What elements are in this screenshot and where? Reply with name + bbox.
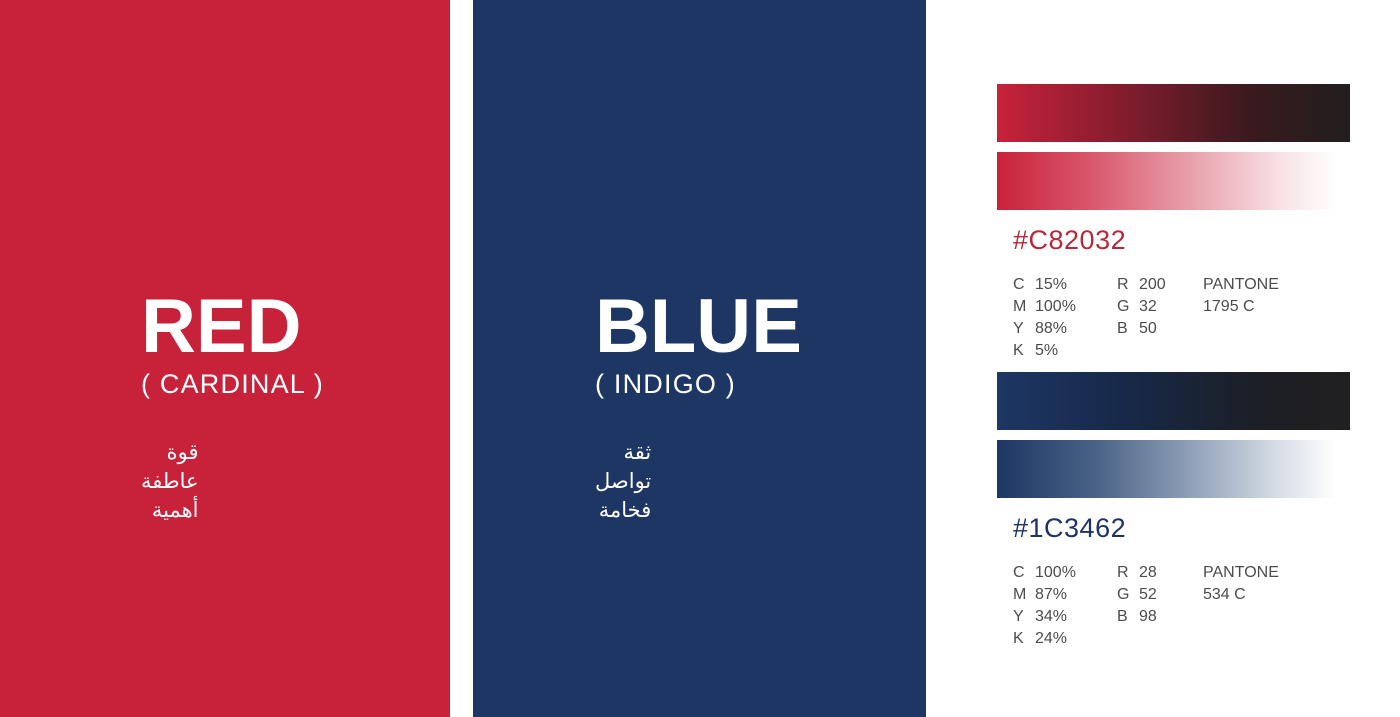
cmyk-k-value: 5% [1035,340,1058,362]
rgb-g-value: 32 [1139,296,1157,318]
rgb-b-channel: B [1117,606,1139,628]
spec-row-rgb-r: R 200 [1117,274,1203,296]
panel-blue-content: BLUE ( INDIGO ) ثقة تواصل فخامة [473,292,926,525]
panel-red-keyword-1: قوة [141,438,199,467]
panel-blue-keyword-3: فخامة [595,496,651,525]
panel-red-title: RED [141,292,450,363]
spec-block-red: #C82032 C 15% M 100% Y 88% K 5% R 200 [997,84,1350,362]
cmyk-y-channel: Y [1013,318,1035,340]
panel-blue-title: BLUE [595,292,926,363]
cmyk-c-channel: C [1013,562,1035,584]
cmyk-y-channel: Y [1013,606,1035,628]
spec-column-pantone-blue: PANTONE 534 C [1203,562,1323,650]
spec-row-cmyk-y: Y 88% [1013,318,1117,340]
spec-row-cmyk-m: M 87% [1013,584,1117,606]
panel-blue-keyword-1: ثقة [595,438,651,467]
spec-column-rgb-red: R 200 G 32 B 50 [1117,274,1203,362]
spec-row-rgb-g: G 32 [1117,296,1203,318]
rgb-g-channel: G [1117,584,1139,606]
panel-blue-subtitle: ( INDIGO ) [595,369,926,400]
pantone-label-blue: PANTONE [1203,562,1323,584]
rgb-g-value: 52 [1139,584,1157,606]
rgb-b-value: 98 [1139,606,1157,628]
spec-row-rgb-g: G 52 [1117,584,1203,606]
cmyk-k-channel: K [1013,628,1035,650]
cmyk-c-value: 100% [1035,562,1076,584]
cmyk-c-value: 15% [1035,274,1067,296]
hex-label-red: #C82032 [1013,227,1350,254]
spec-row-rgb-b: B 98 [1117,606,1203,628]
panel-red-keyword-2: عاطفة [141,467,199,496]
rgb-r-channel: R [1117,274,1139,296]
spec-table-blue: C 100% M 87% Y 34% K 24% R 28 G [1013,562,1350,650]
cmyk-m-channel: M [1013,296,1035,318]
pantone-value-blue: 534 C [1203,584,1323,606]
rgb-b-channel: B [1117,318,1139,340]
color-panel-red: RED ( CARDINAL ) قوة عاطفة أهمية [0,0,450,717]
rgb-b-value: 50 [1139,318,1157,340]
spec-block-blue: #1C3462 C 100% M 87% Y 34% K 24% R 28 [997,372,1350,650]
spec-row-rgb-r: R 28 [1117,562,1203,584]
gradient-bar-red-to-light [997,152,1350,210]
cmyk-m-channel: M [1013,584,1035,606]
rgb-r-value: 200 [1139,274,1166,296]
gradient-bar-red-to-dark [997,84,1350,142]
spec-column-cmyk-red: C 15% M 100% Y 88% K 5% [1013,274,1117,362]
spec-row-cmyk-c: C 100% [1013,562,1117,584]
cmyk-y-value: 34% [1035,606,1067,628]
rgb-r-value: 28 [1139,562,1157,584]
panel-red-content: RED ( CARDINAL ) قوة عاطفة أهمية [0,292,450,525]
panel-blue-keyword-2: تواصل [595,467,651,496]
spec-column-cmyk-blue: C 100% M 87% Y 34% K 24% [1013,562,1117,650]
spec-table-red: C 15% M 100% Y 88% K 5% R 200 G [1013,274,1350,362]
cmyk-c-channel: C [1013,274,1035,296]
cmyk-m-value: 87% [1035,584,1067,606]
gradient-bar-blue-to-dark [997,372,1350,430]
rgb-r-channel: R [1117,562,1139,584]
panel-red-subtitle: ( CARDINAL ) [141,369,450,400]
cmyk-y-value: 88% [1035,318,1067,340]
spec-column-rgb-blue: R 28 G 52 B 98 [1117,562,1203,650]
rgb-g-channel: G [1117,296,1139,318]
panel-red-keyword-3: أهمية [141,496,199,525]
cmyk-m-value: 100% [1035,296,1076,318]
panel-blue-keywords: ثقة تواصل فخامة [595,438,651,525]
spec-row-cmyk-y: Y 34% [1013,606,1117,628]
spec-row-cmyk-k: K 5% [1013,340,1117,362]
spec-column-pantone-red: PANTONE 1795 C [1203,274,1323,362]
pantone-value-red: 1795 C [1203,296,1323,318]
panel-red-keywords: قوة عاطفة أهمية [141,438,199,525]
gradient-bar-blue-to-light [997,440,1350,498]
pantone-label-red: PANTONE [1203,274,1323,296]
spec-row-cmyk-m: M 100% [1013,296,1117,318]
hex-label-blue: #1C3462 [1013,515,1350,542]
spec-row-cmyk-c: C 15% [1013,274,1117,296]
spec-row-rgb-b: B 50 [1117,318,1203,340]
cmyk-k-value: 24% [1035,628,1067,650]
color-panel-blue: BLUE ( INDIGO ) ثقة تواصل فخامة [473,0,926,717]
spec-row-cmyk-k: K 24% [1013,628,1117,650]
cmyk-k-channel: K [1013,340,1035,362]
